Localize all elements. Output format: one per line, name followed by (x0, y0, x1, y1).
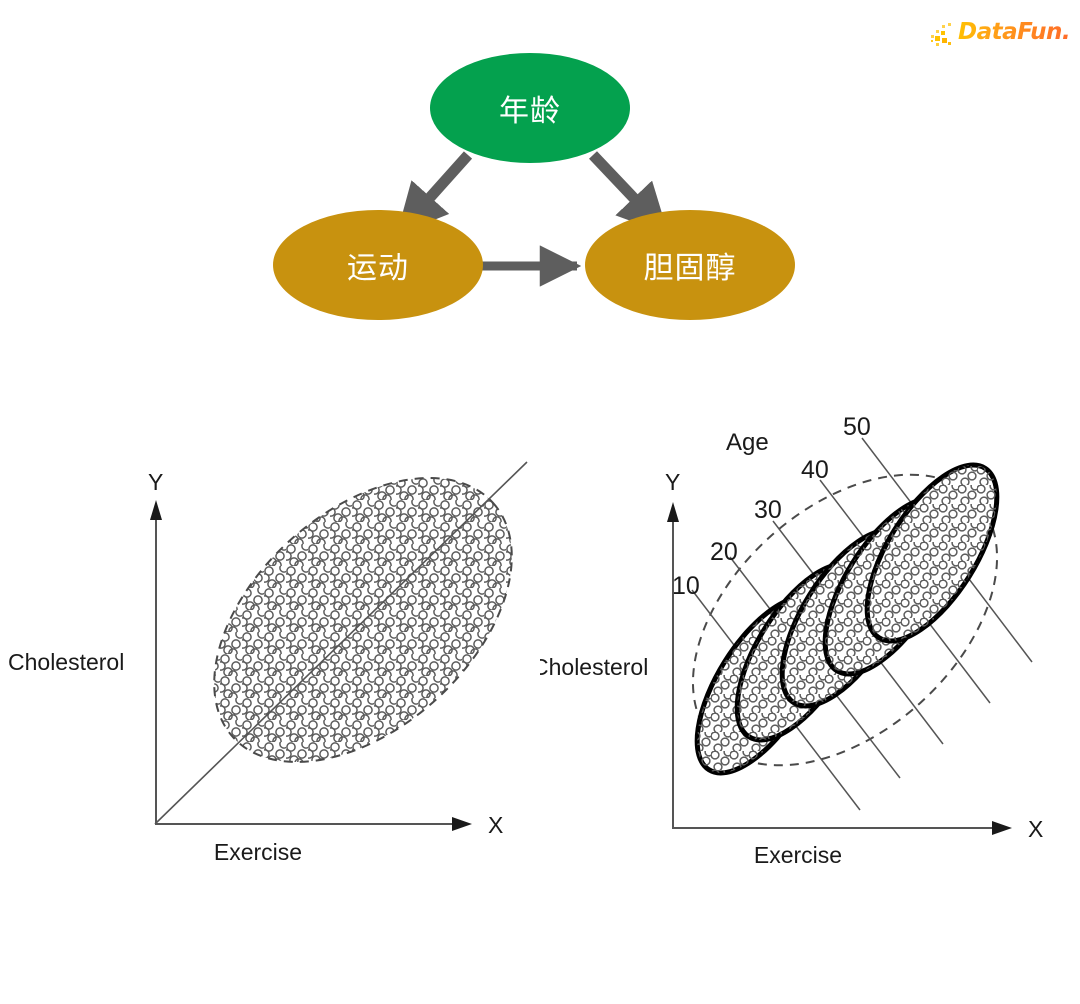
y-axis-tick-label: Y (148, 469, 163, 495)
x-axis-tick-label: X (488, 812, 503, 838)
group-label-40: 40 (801, 456, 829, 484)
node-age-label: 年龄 (430, 53, 630, 163)
group-label-30: 30 (754, 496, 782, 524)
group-title-age: Age (726, 429, 769, 456)
x-axis-label: Exercise (754, 842, 842, 868)
x-axis-arrow (992, 821, 1012, 835)
y-axis-label: Cholesterol (8, 649, 124, 675)
y-axis-tick-label: Y (665, 469, 680, 495)
node-exercise[interactable]: 运动 (273, 210, 483, 320)
group-label-20: 20 (710, 538, 738, 566)
x-axis-label: Exercise (214, 839, 302, 865)
y-axis-label: Cholesterol (540, 654, 648, 680)
node-age[interactable]: 年龄 (430, 53, 630, 163)
scatter-point-cloud (150, 440, 540, 820)
node-cholesterol-label: 胆固醇 (585, 210, 795, 320)
y-axis-arrow (150, 500, 162, 520)
chart-stratified-scatter: Y X Cholesterol Exercise Age 10 20 30 40… (540, 390, 1080, 890)
group-label-50: 50 (843, 413, 871, 441)
brand-name: DataFun. (958, 19, 1070, 45)
node-cholesterol[interactable]: 胆固醇 (585, 210, 795, 320)
group-label-10: 10 (672, 572, 700, 600)
chart-marginal-scatter: Y X Cholesterol Exercise (0, 390, 540, 890)
pixel-dots-icon (930, 21, 958, 47)
datafun-logo: DataFun. (930, 18, 1076, 56)
causal-diagram: 年龄 运动 胆固醇 (255, 35, 835, 325)
slide-canvas: DataFun. 年龄 运动 胆固醇 (0, 0, 1080, 1004)
node-exercise-label: 运动 (273, 210, 483, 320)
x-axis-arrow (452, 817, 472, 831)
x-axis-tick-label: X (1028, 816, 1043, 842)
y-axis-arrow (667, 502, 679, 522)
